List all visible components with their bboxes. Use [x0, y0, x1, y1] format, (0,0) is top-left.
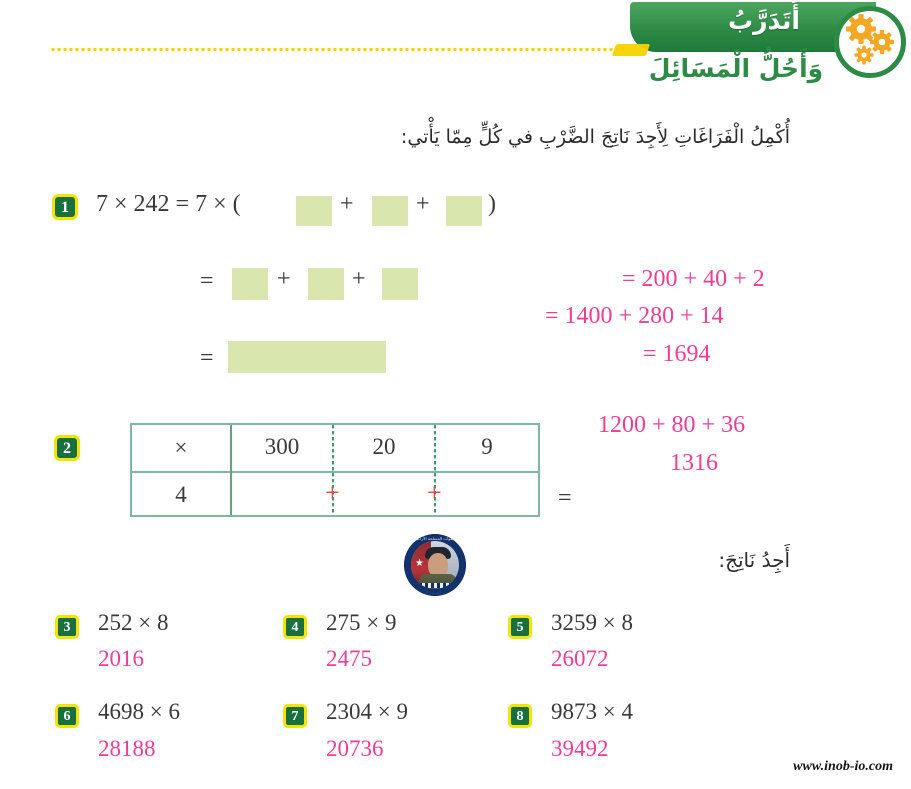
table-header-300: 300 — [232, 434, 332, 460]
problem1-line3-equals: = — [200, 345, 214, 372]
problem1-answer-line-2: = 1400 + 280 + 14 — [545, 303, 724, 330]
problem1-line1-expression: 7 × 242 = 7 × ( — [96, 191, 241, 218]
exercise-answer-3: 2016 — [98, 646, 144, 672]
problem2-equals: = — [558, 485, 572, 512]
site-watermark: www.inob-io.com — [793, 759, 893, 775]
exercise-expression-3: 252 × 8 — [98, 610, 168, 636]
exercise-badge-6: 6 — [55, 704, 79, 728]
problem1-line2-plus-1: + — [277, 266, 291, 293]
exercise-badge-4: 4 — [283, 615, 307, 639]
problem1-line1-close-paren: ) — [488, 191, 496, 218]
exercise-answer-8: 39492 — [551, 736, 609, 762]
table-plus-1: + — [325, 478, 340, 508]
exercise-answer-7: 20736 — [326, 736, 384, 762]
emblem-ring-text-bottom: الجيش العربي — [418, 590, 441, 595]
problem-number-badge-1: 1 — [52, 194, 78, 220]
problem1-answer-line-3: = 1694 — [643, 341, 711, 368]
table-plus-2: + — [427, 478, 442, 508]
problem2-answer-line-1: 1200 + 80 + 36 — [598, 412, 745, 439]
exercise-expression-7: 2304 × 9 — [326, 699, 408, 725]
problem2-answer-line-2: 1316 — [670, 450, 718, 477]
problem1-line2-plus-2: + — [352, 266, 366, 293]
find-product-label: أَجِدُ نَاتِجَ: — [0, 548, 790, 572]
exercise-badge-3: 3 — [55, 615, 79, 639]
table-header-9: 9 — [436, 434, 538, 460]
exercise-answer-4: 2475 — [326, 646, 372, 672]
exercise-answer-6: 28188 — [98, 736, 156, 762]
exercise-badge-5: 5 — [508, 615, 532, 639]
problem1-blank-6[interactable] — [382, 268, 418, 300]
dotted-divider — [50, 47, 628, 52]
table-header-20: 20 — [334, 434, 434, 460]
banner-subtitle: وَأَحُلُّ الْمَسَائِلَ — [612, 54, 860, 83]
banner-title: أَتَدَرَّبُ — [664, 6, 864, 35]
problem1-blank-3[interactable] — [446, 196, 482, 226]
multiplication-table: × 300 20 9 4 + + — [130, 423, 540, 517]
table-row-divider — [132, 471, 538, 473]
problem1-blank-1[interactable] — [296, 196, 332, 226]
table-row-multiplier: 4 — [132, 482, 230, 508]
exercise-expression-6: 4698 × 6 — [98, 699, 180, 725]
problem1-line2-equals: = — [200, 268, 214, 295]
exercise-expression-5: 3259 × 8 — [551, 610, 633, 636]
exercise-expression-8: 9873 × 4 — [551, 699, 633, 725]
instruction-text: أُكْمِلُ الْفَرَاغَاتِ لِأَجِدَ نَاتِجَ … — [0, 126, 790, 148]
exercise-badge-7: 7 — [283, 704, 307, 728]
exercise-answer-5: 26072 — [551, 646, 609, 672]
header-banner: أَتَدَرَّبُ وَأَحُلُّ الْمَسَائِلَ — [612, 0, 911, 102]
problem1-blank-2[interactable] — [372, 196, 408, 226]
gears-icon — [834, 6, 906, 78]
problem1-blank-4[interactable] — [232, 268, 268, 300]
problem1-line1-plus-1: + — [340, 191, 354, 218]
table-header-operator: × — [132, 435, 230, 461]
exercise-expression-4: 275 × 9 — [326, 610, 396, 636]
problem1-blank-5[interactable] — [308, 268, 344, 300]
problem1-line1-plus-2: + — [416, 191, 430, 218]
problem1-answer-line-1: = 200 + 40 + 2 — [622, 266, 765, 293]
exercise-badge-8: 8 — [508, 704, 532, 728]
problem1-blank-7[interactable] — [228, 341, 386, 373]
problem-number-badge-2: 2 — [54, 435, 80, 461]
